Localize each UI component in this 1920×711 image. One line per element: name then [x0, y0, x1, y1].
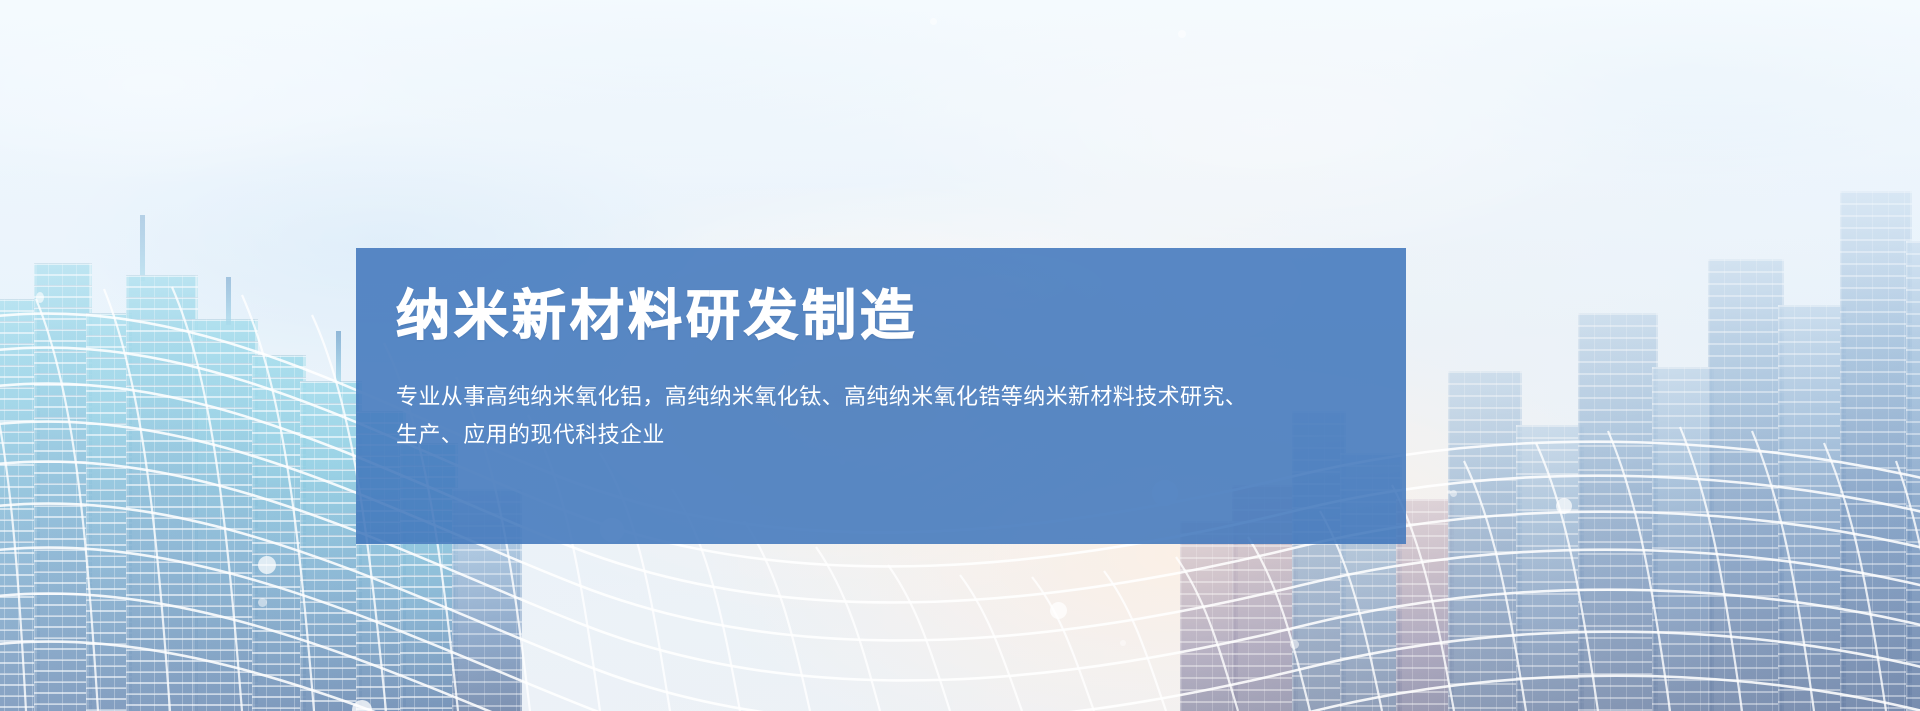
subtitle-line-2: 生产、应用的现代科技企业	[396, 416, 1360, 454]
hero-banner: 纳米新材料研发制造 专业从事高纯纳米氧化铝，高纯纳米氧化钛、高纯纳米氧化锆等纳米…	[0, 0, 1920, 711]
page-title: 纳米新材料研发制造	[396, 286, 1360, 346]
hero-text-panel: 纳米新材料研发制造 专业从事高纯纳米氧化铝，高纯纳米氧化钛、高纯纳米氧化锆等纳米…	[356, 248, 1406, 544]
page-subtitle: 专业从事高纯纳米氧化铝，高纯纳米氧化钛、高纯纳米氧化锆等纳米新材料技术研究、 生…	[396, 378, 1360, 454]
subtitle-line-1: 专业从事高纯纳米氧化铝，高纯纳米氧化钛、高纯纳米氧化锆等纳米新材料技术研究、	[396, 378, 1360, 416]
